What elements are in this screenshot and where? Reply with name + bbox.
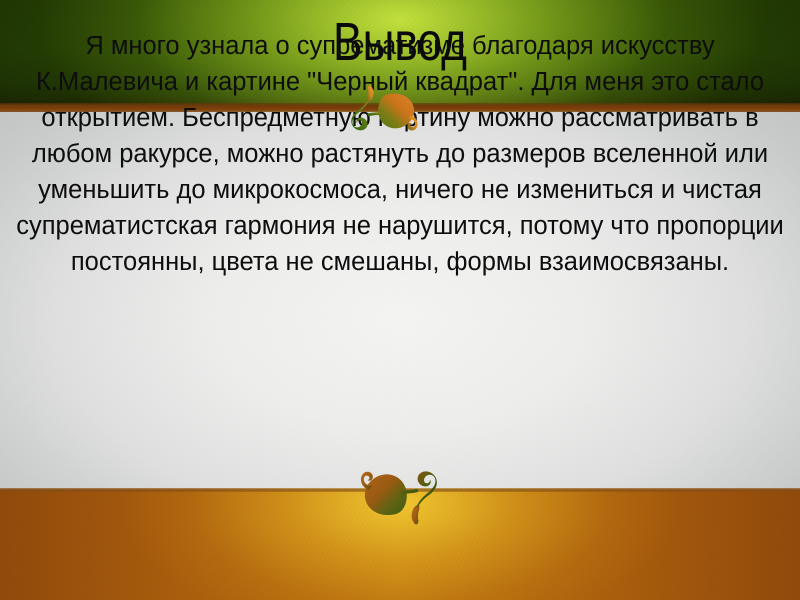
footer-texture-overlay — [0, 488, 800, 600]
slide: Вывод Я много узнала о супрематизме благ… — [0, 0, 800, 600]
body-text-block: Я много узнала о супрематизме благодаря … — [14, 28, 786, 280]
body-paragraph: Я много узнала о супрематизме благодаря … — [14, 28, 786, 280]
footer-divider-rule — [0, 488, 800, 492]
footer-orange-band — [0, 488, 800, 600]
